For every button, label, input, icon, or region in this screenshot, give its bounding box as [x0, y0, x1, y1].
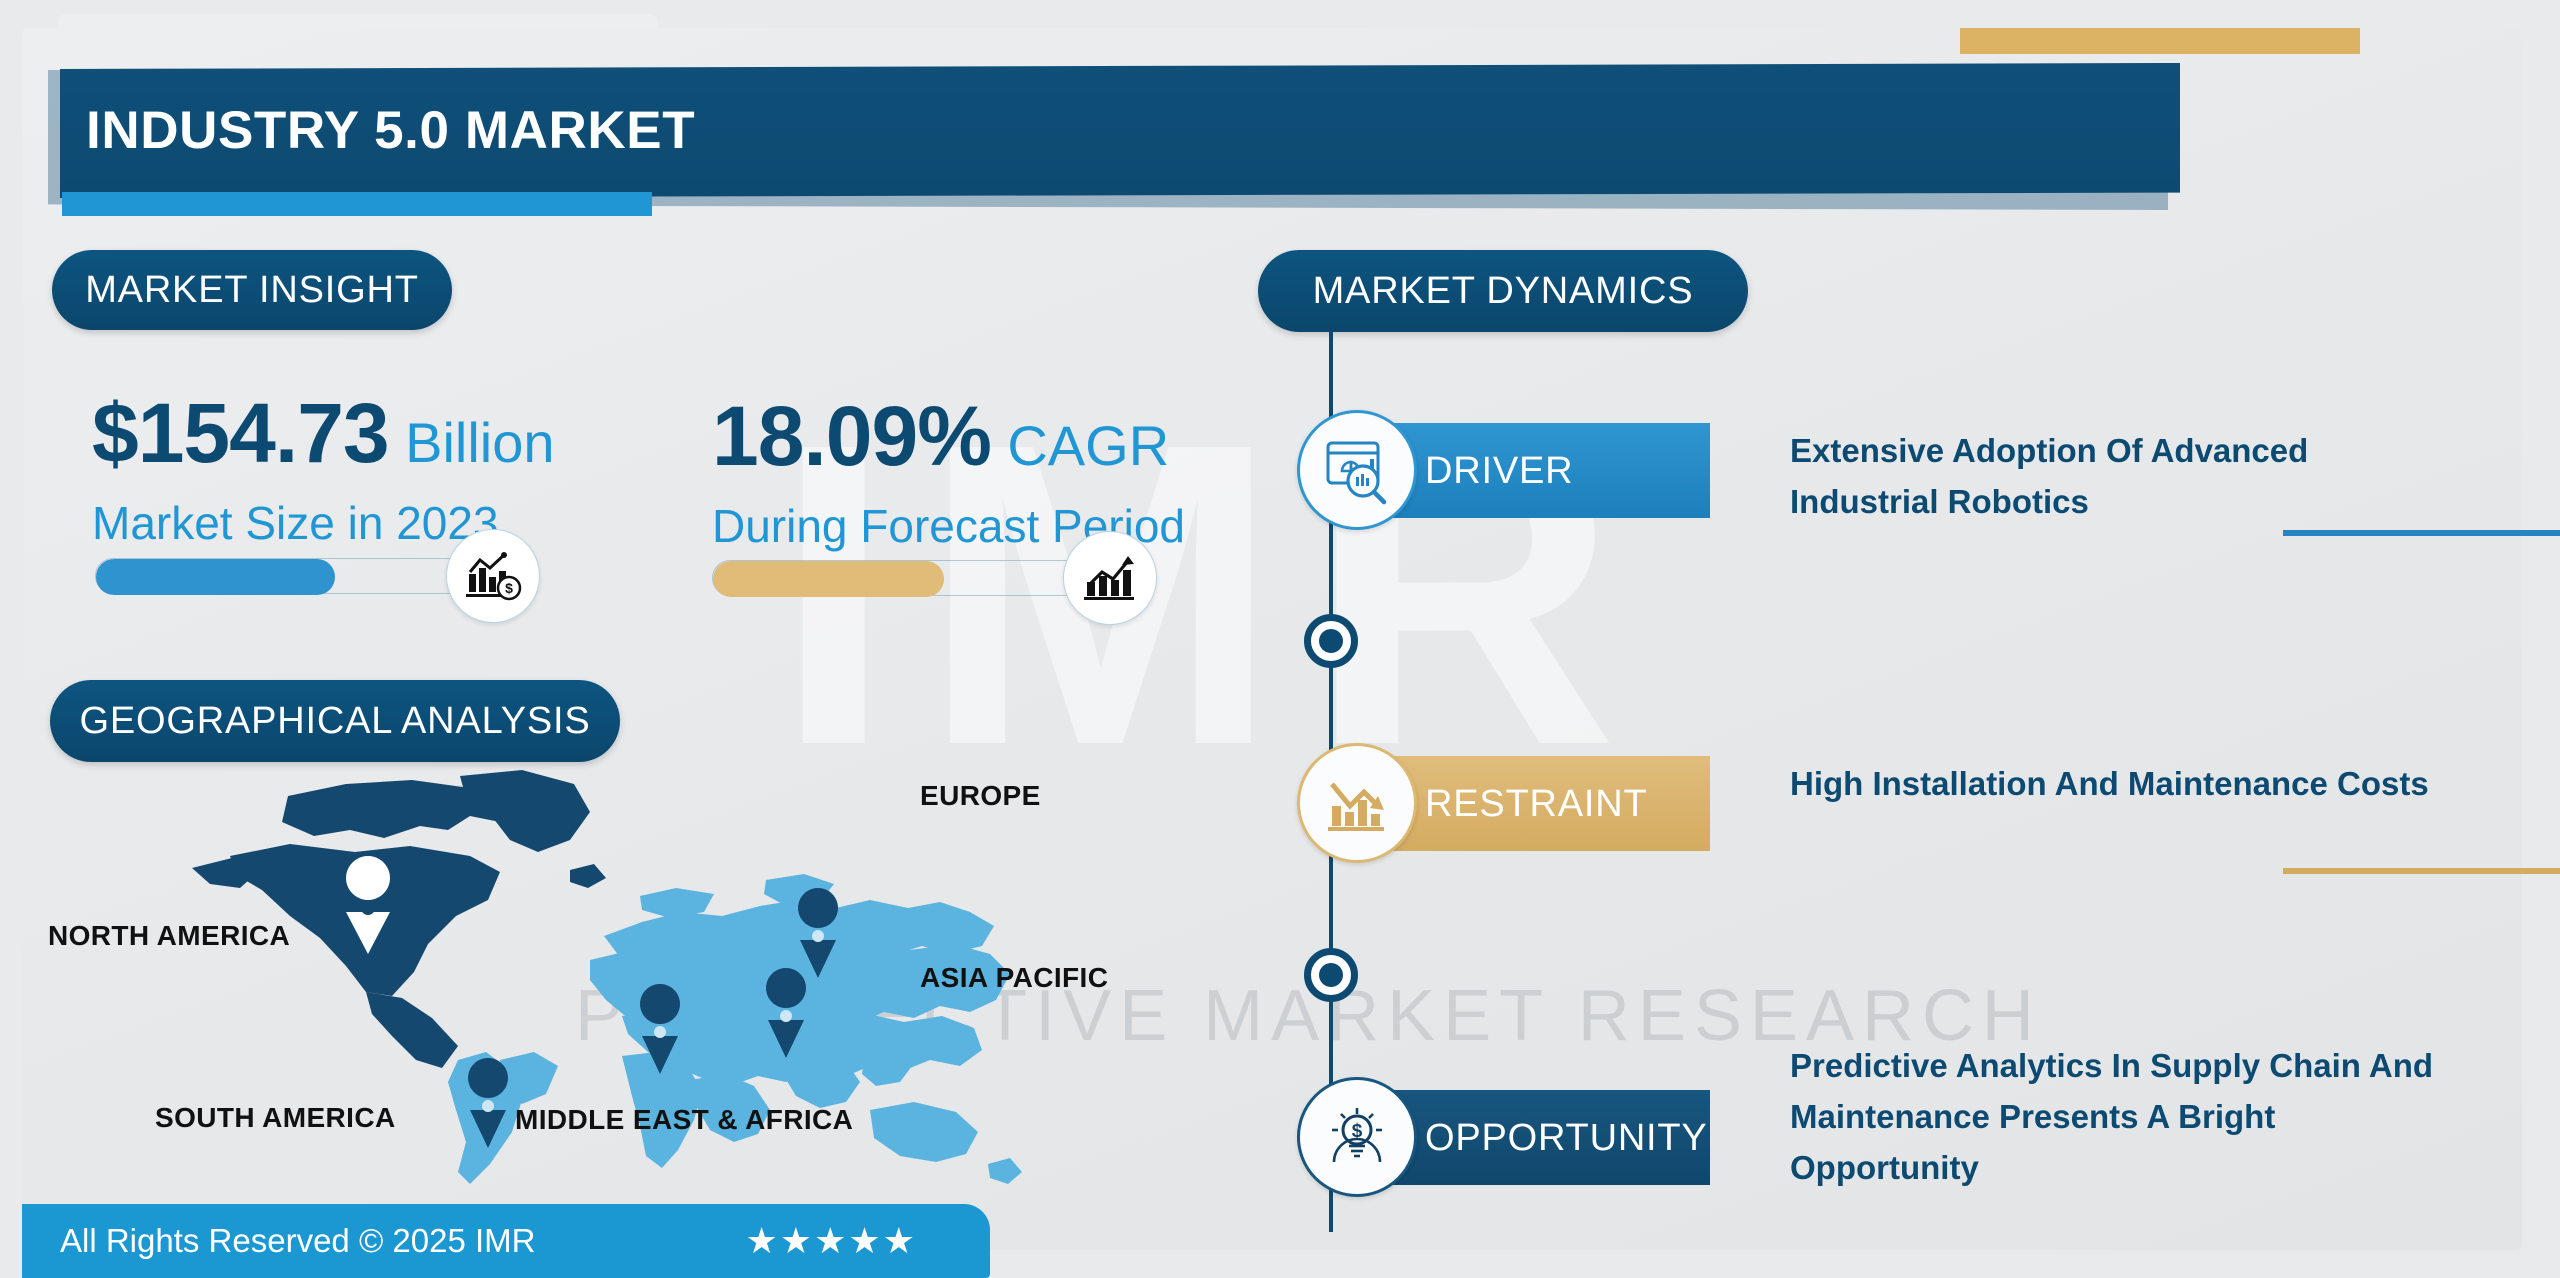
stat-cagr: 18.09% CAGR During Forecast Period — [712, 388, 1185, 553]
market-size-progress: $ — [95, 558, 495, 594]
restraint-connector-line — [2283, 868, 2560, 874]
progress-fill — [713, 561, 944, 597]
region-label-asia-pacific: ASIA PACIFIC — [920, 962, 1108, 994]
page-title: INDUSTRY 5.0 MARKET — [86, 100, 695, 161]
copyright-text: All Rights Reserved © 2025 IMR — [60, 1222, 536, 1260]
restraint-label: RESTRAINT — [1425, 776, 1648, 832]
restraint-description: High Installation And Maintenance Costs — [1790, 758, 2450, 809]
gold-accent-bar — [1960, 28, 2360, 54]
section-heading-geographical-analysis: GEOGRAPHICAL ANALYSIS — [50, 680, 620, 762]
growth-arrow-chart-icon — [1063, 531, 1157, 625]
market-dynamics-label: MARKET DYNAMICS — [1313, 270, 1694, 313]
timeline-node-2 — [1304, 948, 1358, 1002]
progress-track — [712, 560, 1112, 596]
opportunity-description: Predictive Analytics In Supply Chain And… — [1790, 1040, 2450, 1193]
section-heading-market-insight: MARKET INSIGHT — [52, 250, 452, 330]
infographic-canvas: IMR PROSPECTIVE MARKET RESEARCH INDUSTRY… — [0, 0, 2560, 1278]
market-insight-label: MARKET INSIGHT — [85, 269, 419, 312]
progress-fill — [96, 559, 335, 595]
cagr-value: 18.09% — [712, 389, 991, 483]
timeline-node-1 — [1304, 614, 1358, 668]
driver-description: Extensive Adoption Of Advanced Industria… — [1790, 425, 2450, 527]
geographical-analysis-label: GEOGRAPHICAL ANALYSIS — [80, 700, 591, 743]
map-region-latin-america-africa-eurasia — [448, 874, 1022, 1184]
svg-text:$: $ — [505, 580, 513, 596]
dashboard-magnifier-icon — [1297, 410, 1417, 530]
driver-connector-line — [2283, 530, 2560, 536]
region-label-europe: EUROPE — [920, 780, 1041, 812]
market-size-unit: Billion — [405, 411, 554, 474]
driver-label: DRIVER — [1425, 443, 1573, 499]
region-label-north-america: NORTH AMERICA — [48, 920, 290, 952]
footer-bar: All Rights Reserved © 2025 IMR ★★★★★ — [22, 1204, 990, 1278]
market-size-value: $154.73 — [92, 386, 389, 480]
bar-chart-dollar-icon: $ — [446, 529, 540, 623]
region-label-south-america: SOUTH AMERICA — [155, 1102, 396, 1134]
title-banner: INDUSTRY 5.0 MARKET — [60, 63, 2180, 198]
cagr-progress — [712, 560, 1112, 596]
cagr-unit: CAGR — [1007, 414, 1169, 477]
progress-track: $ — [95, 558, 495, 594]
rating-stars: ★★★★★ — [746, 1220, 917, 1262]
map-region-north-america — [192, 770, 606, 1068]
stat-market-size: $154.73 Billion Market Size in 2023 — [92, 385, 555, 550]
declining-bar-chart-icon — [1297, 743, 1417, 863]
opportunity-label: OPPORTUNITY — [1425, 1110, 1708, 1166]
section-heading-market-dynamics: MARKET DYNAMICS — [1258, 250, 1748, 332]
title-underbar — [62, 192, 652, 216]
region-label-middle-east-africa: MIDDLE EAST & AFRICA — [515, 1104, 853, 1136]
lightbulb-dollar-icon: $ — [1297, 1077, 1417, 1197]
